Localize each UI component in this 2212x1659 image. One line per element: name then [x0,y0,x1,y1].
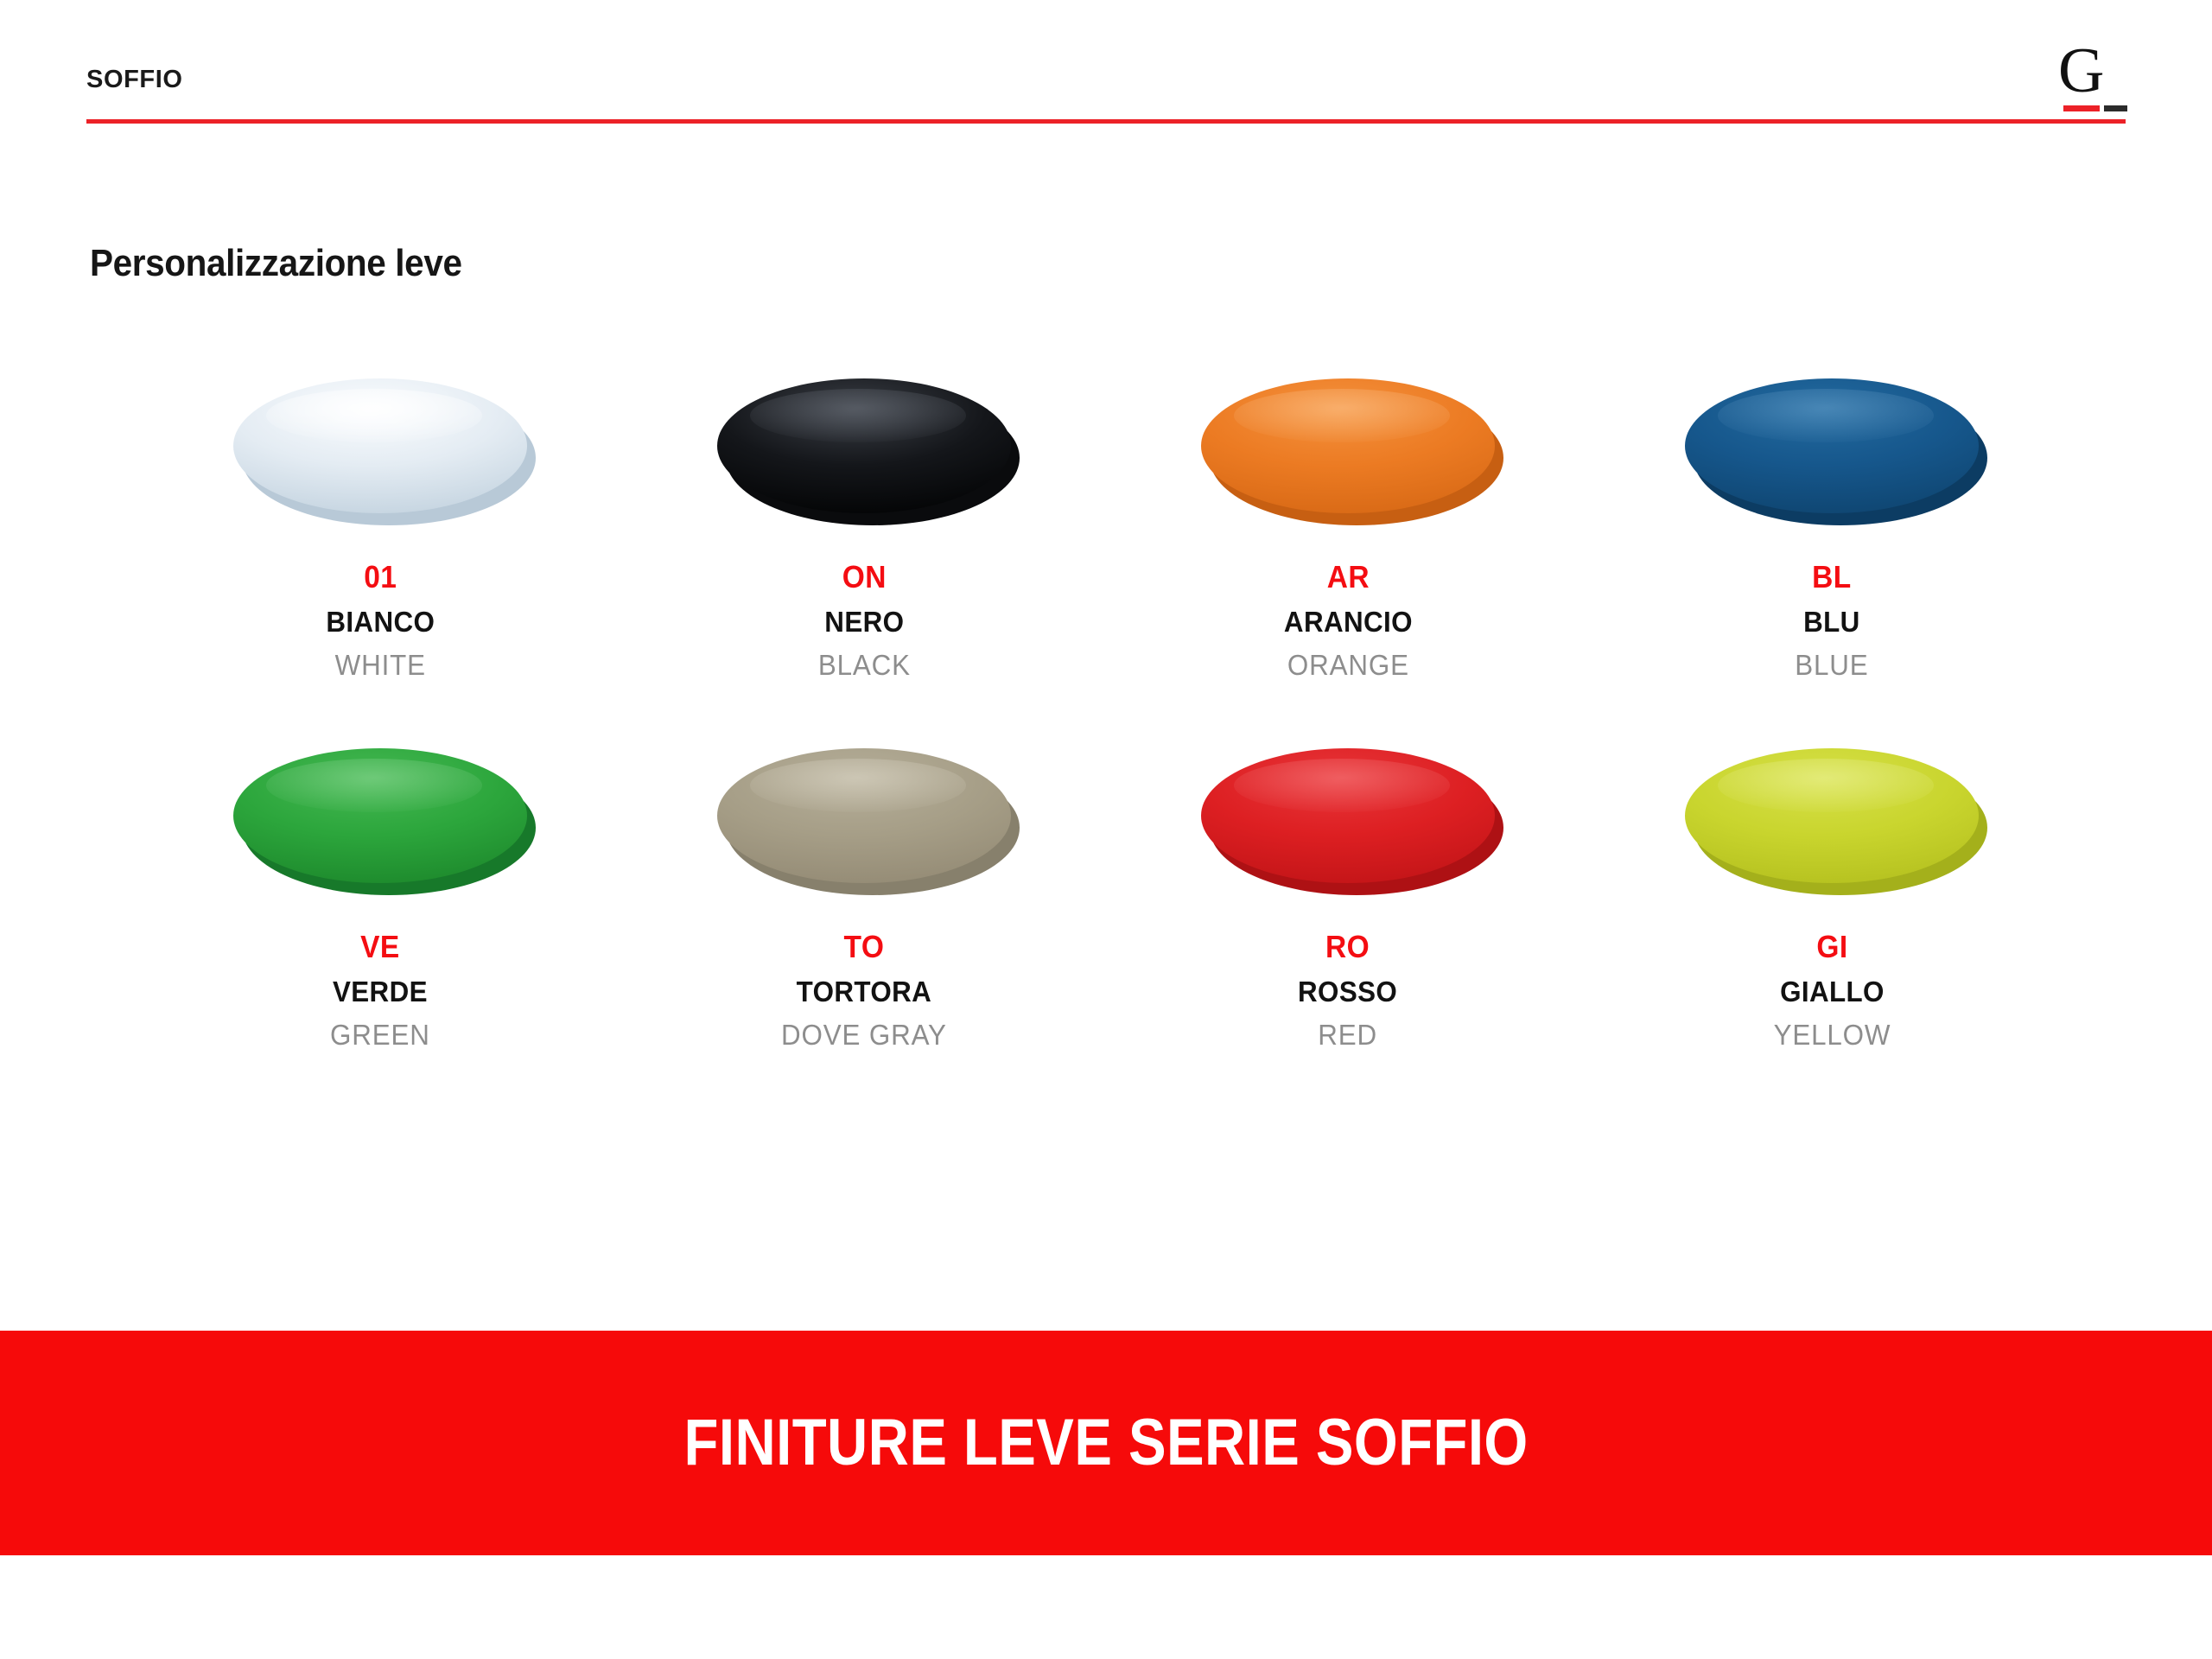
swatch-code-giallo: GI [1775,931,1890,963]
swatch-cell-giallo[interactable]: GI GIALLO YELLOW [1590,741,2074,1049]
swatch-code-verde: VE [331,931,429,963]
brand-underline-red-mark [2063,105,2100,111]
footer-banner: FINITURE LEVE SERIE SOFFIO [0,1331,2212,1555]
lever-disc-tortora[interactable] [709,741,1020,914]
header-divider-rule [86,119,2126,124]
swatch-cell-rosso[interactable]: RO ROSSO RED [1106,741,1590,1049]
brand-logo: G [2058,41,2133,119]
swatch-code-rosso: RO [1300,931,1397,963]
swatch-labels-blu: BL BLU BLUE [1793,562,1871,679]
finish-swatch-grid: 01 BIANCO WHITE ON NERO BLACK [138,372,2074,1049]
header-series-title: SOFFIO [86,67,183,92]
swatch-labels-nero: ON NERO BLACK [816,562,913,679]
lever-disc-arancio[interactable] [1192,372,1503,544]
section-title: Personalizzazione leve [90,245,462,283]
swatch-labels-rosso: RO ROSSO RED [1295,931,1400,1049]
swatch-name-en-verde: GREEN [330,1020,430,1049]
swatch-name-en-arancio: ORANGE [1284,651,1413,679]
swatch-code-blu: BL [1796,562,1868,593]
swatch-cell-nero[interactable]: ON NERO BLACK [622,372,1106,679]
swatch-labels-arancio: AR ARANCIO ORANGE [1281,562,1416,679]
swatch-labels-verde: VE VERDE GREEN [327,931,433,1049]
swatch-name-en-bianco: WHITE [326,651,435,679]
swatch-name-en-tortora: DOVE GRAY [781,1020,947,1049]
swatch-name-en-rosso: RED [1298,1020,1397,1049]
swatch-name-it-rosso: ROSSO [1298,977,1397,1006]
swatch-code-nero: ON [819,562,910,593]
swatch-name-it-verde: VERDE [330,977,430,1006]
swatch-labels-tortora: TO TORTORA DOVE GRAY [777,931,951,1049]
lever-disc-blu[interactable] [1676,372,1987,544]
lever-disc-nero[interactable] [709,372,1020,544]
disc-face-blu [1685,378,1979,513]
brand-underline-marks [2063,105,2127,111]
page-header: SOFFIO G [0,0,2212,130]
swatch-code-bianco: 01 [327,562,433,593]
disc-face-arancio [1201,378,1495,513]
swatch-name-it-tortora: TORTORA [781,977,947,1006]
swatch-code-tortora: TO [783,931,945,963]
brand-underline-black-mark [2104,105,2127,111]
swatch-code-arancio: AR [1285,562,1411,593]
lever-disc-rosso[interactable] [1192,741,1503,914]
swatch-name-it-giallo: GIALLO [1773,977,1891,1006]
lever-disc-bianco[interactable] [225,372,536,544]
swatch-labels-giallo: GI GIALLO YELLOW [1770,931,1894,1049]
slide-page: SOFFIO G Personalizzazione leve [0,0,2212,1659]
disc-face-nero [717,378,1011,513]
disc-face-rosso [1201,748,1495,883]
swatch-name-en-giallo: YELLOW [1773,1020,1891,1049]
brand-letter-g-icon: G [2058,41,2104,101]
swatch-name-it-nero: NERO [817,607,910,636]
swatch-labels-bianco: 01 BIANCO WHITE [323,562,438,679]
swatch-cell-verde[interactable]: VE VERDE GREEN [138,741,622,1049]
swatch-name-it-arancio: ARANCIO [1284,607,1413,636]
swatch-name-it-bianco: BIANCO [326,607,435,636]
disc-face-verde [233,748,527,883]
disc-face-bianco [233,378,527,513]
swatch-cell-arancio[interactable]: AR ARANCIO ORANGE [1106,372,1590,679]
lever-disc-giallo[interactable] [1676,741,1987,914]
disc-face-giallo [1685,748,1979,883]
swatch-row-1: 01 BIANCO WHITE ON NERO BLACK [138,372,2074,679]
swatch-row-2: VE VERDE GREEN TO TORTORA DOVE GRAY [138,741,2074,1049]
lever-disc-verde[interactable] [225,741,536,914]
swatch-name-en-nero: BLACK [817,651,910,679]
swatch-name-en-blu: BLUE [1795,651,1868,679]
footer-banner-title: FINITURE LEVE SERIE SOFFIO [683,1410,1528,1476]
swatch-cell-tortora[interactable]: TO TORTORA DOVE GRAY [622,741,1106,1049]
swatch-cell-blu[interactable]: BL BLU BLUE [1590,372,2074,679]
disc-face-tortora [717,748,1011,883]
swatch-cell-bianco[interactable]: 01 BIANCO WHITE [138,372,622,679]
swatch-name-it-blu: BLU [1795,607,1868,636]
